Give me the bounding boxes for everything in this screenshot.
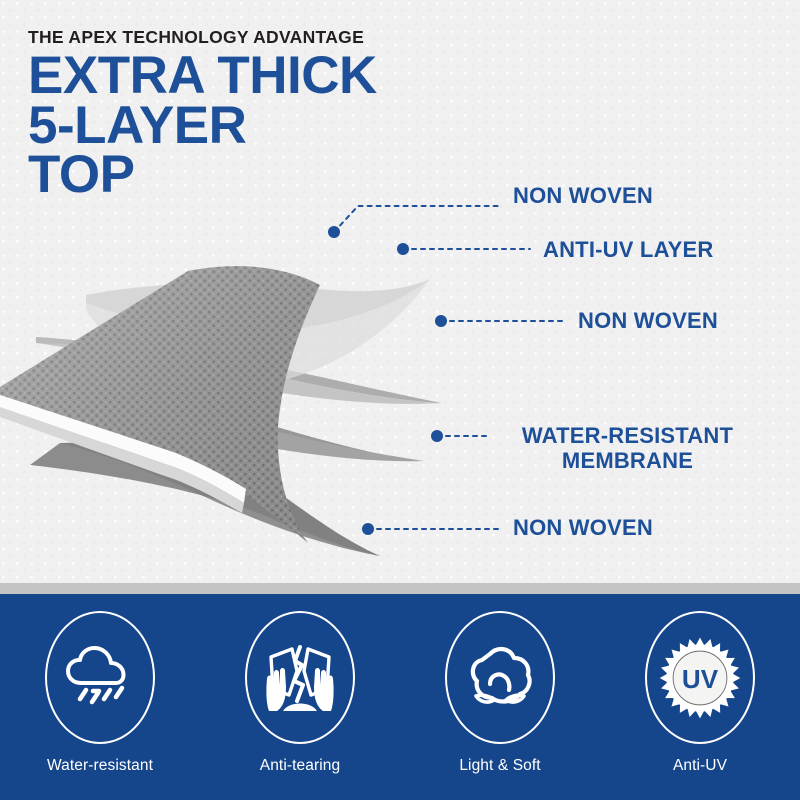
product-infographic: THE APEX TECHNOLOGY ADVANTAGE EXTRA THIC… (0, 0, 800, 800)
feature-bar: Water-resistant (0, 594, 800, 800)
connector-dot-4 (431, 430, 443, 442)
connector-dot-2 (397, 243, 409, 255)
rain-cloud-icon (61, 639, 139, 717)
leader-line-1 (334, 206, 500, 232)
feature-label-anti-tearing: Anti-tearing (260, 757, 340, 775)
callout-layer-5: NON WOVEN (513, 516, 653, 541)
uv-badge-text: UV (682, 664, 719, 694)
callout-layer-3: NON WOVEN (578, 309, 718, 334)
feature-ring-anti-tearing (245, 611, 355, 744)
connector-dot-1 (328, 226, 340, 238)
feature-ring-anti-uv: UV (645, 611, 755, 744)
uv-sunburst-icon: UV (658, 636, 742, 720)
callout-layer-4: WATER-RESISTANT MEMBRANE (495, 424, 760, 473)
feature-label-water-resistant: Water-resistant (47, 757, 153, 775)
tearing-hands-icon (259, 637, 341, 719)
feature-label-light-soft: Light & Soft (459, 757, 540, 775)
feature-water-resistant: Water-resistant (10, 611, 190, 775)
soft-cloud-icon (460, 638, 540, 718)
feature-anti-uv: UV Anti-UV (610, 611, 790, 775)
connector-dot-5 (362, 523, 374, 535)
feature-anti-tearing: Anti-tearing (210, 611, 390, 775)
callout-layer-2: ANTI-UV LAYER (543, 238, 713, 263)
connector-dot-3 (435, 315, 447, 327)
feature-ring-water-resistant (45, 611, 155, 744)
callout-layer-1: NON WOVEN (513, 184, 653, 209)
feature-label-anti-uv: Anti-UV (673, 757, 727, 775)
section-divider (0, 583, 800, 594)
feature-ring-light-soft (445, 611, 555, 744)
feature-light-soft: Light & Soft (410, 611, 590, 775)
